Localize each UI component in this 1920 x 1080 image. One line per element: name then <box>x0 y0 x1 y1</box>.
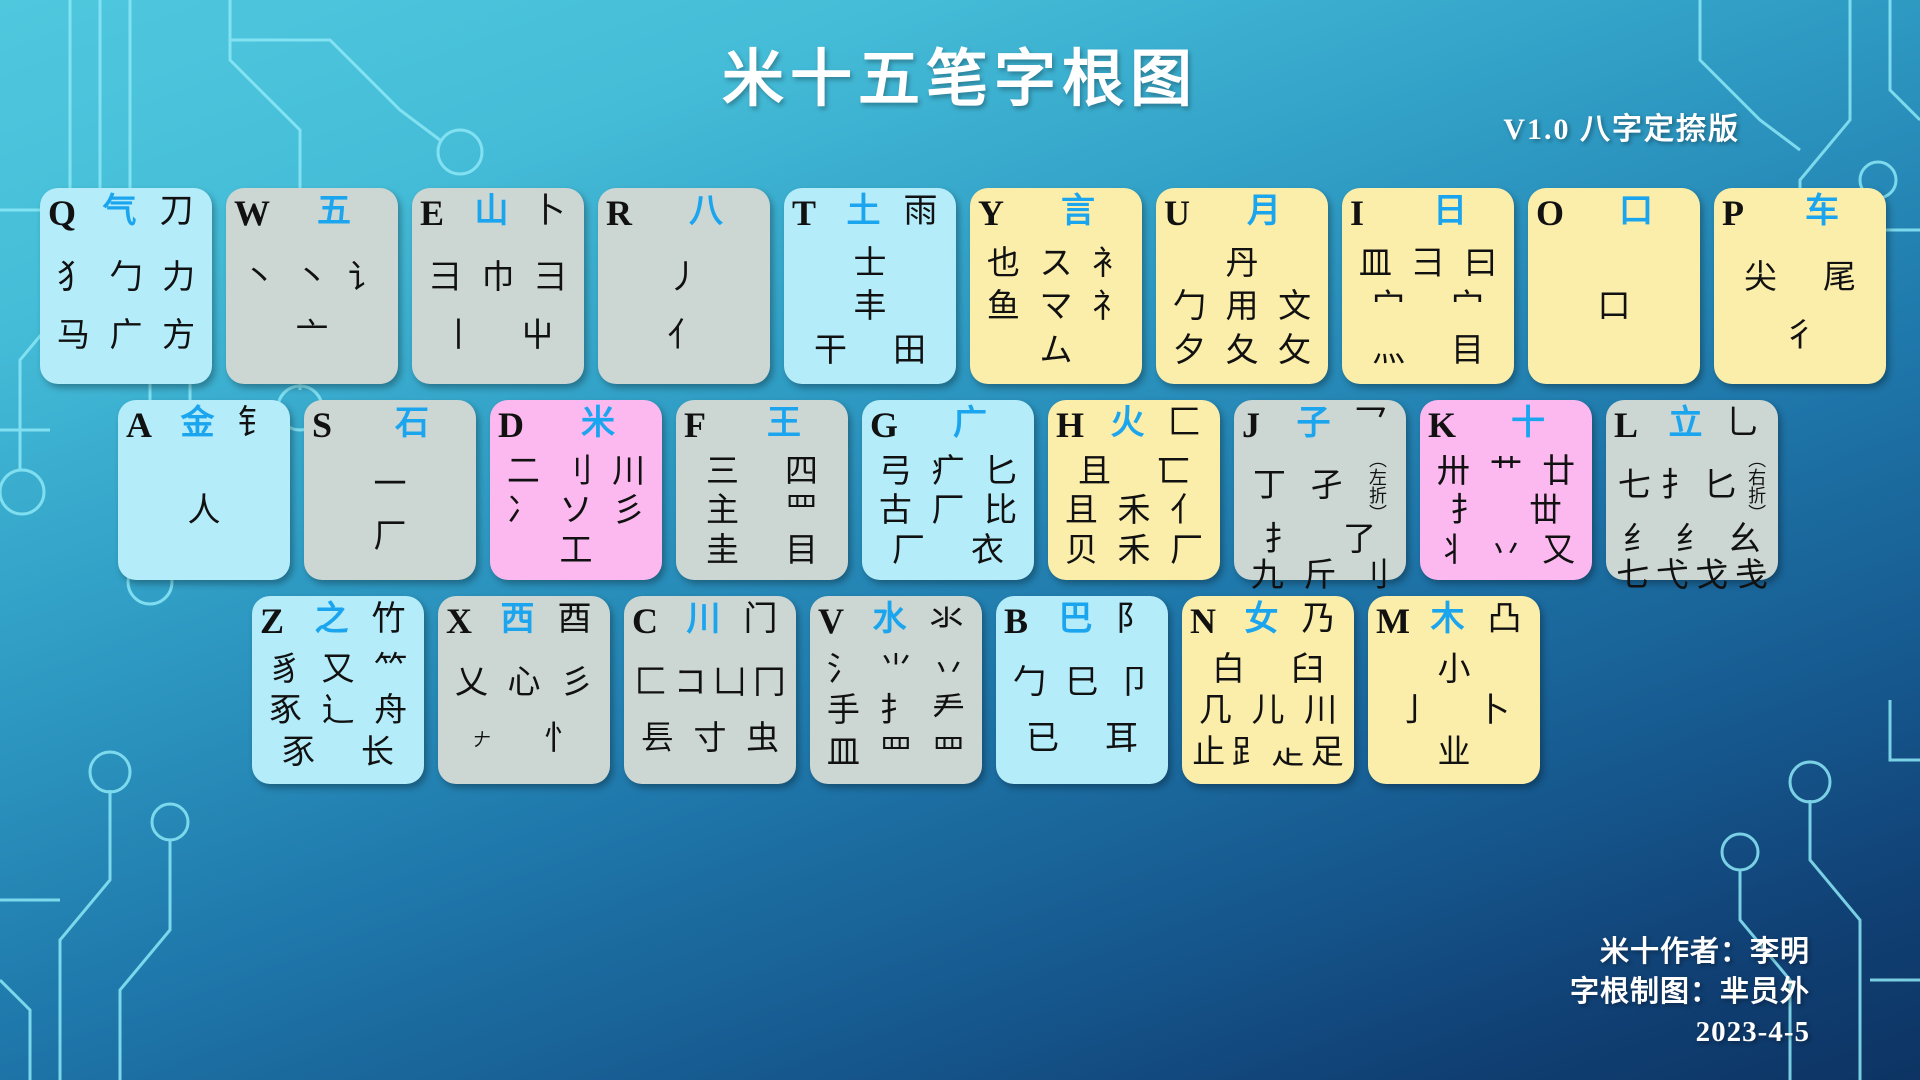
key-primary-radicals: 五 <box>278 192 390 232</box>
version-label: V1.0 八字定捺版 <box>1503 104 1740 148</box>
radical-glyph: 宀 <box>1372 289 1405 325</box>
radical-row: 纟纟幺 <box>1614 522 1770 558</box>
radical-glyph: 禾 <box>1117 493 1150 529</box>
radical-glyph: 凵 <box>713 665 746 701</box>
credit-designer: 字根制图：芈员外 <box>1570 972 1810 1012</box>
radical-glyph: 豸 <box>269 652 302 688</box>
radical-glyph: 巳 <box>1065 665 1098 701</box>
radical-glyph: 宀 <box>1451 289 1484 325</box>
key-header: M木凸 <box>1376 600 1532 646</box>
key-primary-radicals: 之竹 <box>304 600 416 640</box>
credit-author: 米十作者：李明 <box>1570 932 1810 972</box>
key-radical-body: 丶丶讠亠 <box>234 238 390 378</box>
key-header: I日 <box>1350 192 1506 238</box>
key-letter: B <box>1004 600 1048 642</box>
radical-glyph: 豖 <box>269 693 302 729</box>
key-letter: S <box>312 404 356 446</box>
key-radical-body: 一厂 <box>312 450 468 574</box>
radical-row: 三四 <box>684 454 840 490</box>
key-header: B巴阝 <box>1004 600 1160 646</box>
radical-glyph: 亻 <box>1170 493 1203 529</box>
radical-row: 豕长 <box>260 735 416 771</box>
radical-row: 亅卜 <box>1376 693 1532 729</box>
radical-glyph: 罒 <box>785 493 818 529</box>
radical-glyph: 主 <box>706 493 739 529</box>
radical-row: 已耳 <box>1004 721 1160 757</box>
key-j[interactable]: J子乛丁孑（左折）扌了九斤刂 <box>1234 400 1406 580</box>
radical-row: 勹用文 <box>1164 289 1320 325</box>
radical-glyph: 丗 <box>1529 493 1562 529</box>
radical-row: ム <box>978 333 1134 369</box>
radical-glyph: 乚 <box>1726 404 1760 444</box>
radical-glyph: 西 <box>501 600 535 640</box>
radical-glyph: 扌 <box>1264 522 1297 558</box>
radical-glyph: 丿 <box>668 260 701 296</box>
radical-row: 卅艹廿 <box>1428 454 1584 490</box>
key-x[interactable]: X西酉乂心彡𠂇忄 <box>438 596 610 784</box>
radical-glyph: 七 <box>1616 558 1649 594</box>
key-letter: F <box>684 404 728 446</box>
radical-glyph: 尾 <box>1823 260 1856 296</box>
key-r[interactable]: R八丿亻 <box>598 188 770 384</box>
radical-glyph: 丶 <box>243 260 276 296</box>
radical-glyph: 亻 <box>668 318 701 354</box>
key-g[interactable]: G广弓疒匕古厂比厂衣 <box>862 400 1034 580</box>
key-radical-body: 乂心彡𠂇忄 <box>446 646 602 778</box>
radical-glyph: 门 <box>744 600 778 640</box>
radical-glyph: ス <box>1039 246 1072 282</box>
key-primary-radicals: 川门 <box>676 600 788 640</box>
key-header: E山卜 <box>420 192 576 238</box>
radical-glyph: 女 <box>1245 600 1279 640</box>
key-primary-radicals: 十 <box>1472 404 1584 444</box>
key-primary-radicals: 火匚 <box>1100 404 1212 444</box>
radical-glyph: 攵 <box>1278 333 1311 369</box>
key-z[interactable]: Z之竹豸又⺮豖辶舟豕长 <box>252 596 424 784</box>
key-primary-radicals: 巴阝 <box>1048 600 1160 640</box>
key-n[interactable]: N女乃白臼几儿川止⻊龰足 <box>1182 596 1354 784</box>
radical-row: 二刂川 <box>498 454 654 490</box>
radical-glyph: 耳 <box>1105 721 1138 757</box>
key-primary-radicals: 木凸 <box>1420 600 1532 640</box>
key-s[interactable]: S石一厂 <box>304 400 476 580</box>
radical-row: 七弋戈戋 <box>1614 558 1770 594</box>
key-primary-radicals: 日 <box>1394 192 1506 232</box>
radical-glyph: 辶 <box>321 693 354 729</box>
radical-glyph: 扌 <box>1450 493 1483 529</box>
radical-row: 干田 <box>792 333 948 369</box>
radical-row: 七扌匕（右折） <box>1614 450 1770 522</box>
radical-glyph: 冂 <box>753 665 786 701</box>
key-radical-body: 三四主罒圭目 <box>684 450 840 574</box>
key-letter: I <box>1350 192 1394 234</box>
radical-row: 灬目 <box>1350 333 1506 369</box>
radical-glyph: 龰 <box>1271 735 1304 771</box>
key-letter: E <box>420 192 464 234</box>
key-d[interactable]: D米二刂川冫ソ彡工 <box>490 400 662 580</box>
radical-glyph: 止 <box>1192 735 1225 771</box>
radical-glyph: 龵 <box>932 693 965 729</box>
key-letter: D <box>498 404 542 446</box>
radical-glyph: 金 <box>181 404 215 444</box>
radical-row: 丿 <box>606 260 762 296</box>
key-f[interactable]: F王三四主罒圭目 <box>676 400 848 580</box>
key-primary-radicals: 石 <box>356 404 468 444</box>
radical-glyph: 曰 <box>1464 246 1497 282</box>
key-primary-radicals: 王 <box>728 404 840 444</box>
radical-glyph: 弓 <box>879 454 912 490</box>
radical-glyph: 凸 <box>1488 600 1522 640</box>
key-header: C川门 <box>632 600 788 646</box>
key-o[interactable]: O口口 <box>1528 188 1700 384</box>
radical-glyph: 九 <box>1251 558 1284 594</box>
radical-row: 丹 <box>1164 246 1320 282</box>
key-radical-body: 也ス衤鱼マ礻ム <box>978 238 1134 378</box>
radical-glyph: 广 <box>953 404 987 444</box>
radical-glyph: 禾 <box>1117 533 1150 569</box>
radical-glyph: 王 <box>767 404 801 444</box>
radical-row: 业 <box>1376 735 1532 771</box>
radical-glyph: 亠 <box>296 318 329 354</box>
key-primary-radicals: 女乃 <box>1234 600 1346 640</box>
radical-row: 厂 <box>312 519 468 555</box>
radical-glyph: 二 <box>507 454 540 490</box>
key-letter: N <box>1190 600 1234 642</box>
radical-glyph: 斤 <box>1303 558 1336 594</box>
key-letter: O <box>1536 192 1580 234</box>
radical-glyph: 卩 <box>1118 665 1151 701</box>
radical-glyph: 戋 <box>1735 558 1768 594</box>
radical-glyph: 巾 <box>481 260 514 296</box>
radical-glyph: 言 <box>1061 192 1095 232</box>
radical-glyph: 石 <box>395 404 429 444</box>
key-primary-radicals: 米 <box>542 404 654 444</box>
radical-row: 乂心彡 <box>446 665 602 701</box>
key-q[interactable]: Q气刀犭勹力马广方 <box>40 188 212 384</box>
radical-glyph: 力 <box>162 260 195 296</box>
radical-glyph: 五 <box>317 192 351 232</box>
key-primary-radicals: 水氺 <box>862 600 974 640</box>
key-header: O口 <box>1536 192 1692 238</box>
radical-glyph: 匚 <box>1168 404 1202 444</box>
keyboard-row-3: Z之竹豸又⺮豖辶舟豕长X西酉乂心彡𠂇忄C川门匚コ凵冂镸寸虫V水氺氵⺌丷手扌龵皿罒… <box>0 596 1920 784</box>
key-letter: C <box>632 600 676 642</box>
radical-glyph: 工 <box>560 533 593 569</box>
radical-glyph: 贝 <box>1065 533 1098 569</box>
radical-glyph: 讠 <box>348 260 381 296</box>
key-i[interactable]: I日皿彐曰宀宀灬目 <box>1342 188 1514 384</box>
key-header: F王 <box>684 404 840 450</box>
radical-glyph: 卜 <box>532 192 566 232</box>
radical-glyph: 比 <box>984 493 1017 529</box>
radical-glyph: 罒 <box>879 735 912 771</box>
key-radical-body: 二刂川冫ソ彡工 <box>498 450 654 574</box>
keyboard-layout: Q气刀犭勹力马广方W五丶丶讠亠E山卜⺕巾彐丨屮R八丿亻T土雨士丰干田Y言也ス衤鱼… <box>0 188 1920 800</box>
radical-glyph: 长 <box>361 735 394 771</box>
radical-glyph: 阝 <box>1116 600 1150 640</box>
radical-glyph: 寸 <box>693 721 726 757</box>
key-header: T土雨 <box>792 192 948 238</box>
radical-glyph: 乃 <box>1302 600 1336 640</box>
key-radical-body: 丿亻 <box>606 238 762 378</box>
radical-glyph: ⺕ <box>429 260 462 296</box>
radical-glyph: 火 <box>1111 404 1145 444</box>
radical-glyph: 白 <box>1212 652 1245 688</box>
key-letter: X <box>446 600 490 642</box>
radical-glyph: 氺 <box>930 600 964 640</box>
radical-glyph: 弋 <box>1656 558 1689 594</box>
radical-glyph: 用 <box>1225 289 1258 325</box>
key-header: P车 <box>1722 192 1878 238</box>
keyboard-row-2: A金钅人S石一厂D米二刂川冫ソ彡工F王三四主罒圭目G广弓疒匕古厂比厂衣H火匚且匸… <box>0 400 1920 580</box>
key-v[interactable]: V水氺氵⺌丷手扌龵皿罒罒 <box>810 596 982 784</box>
key-header: K十 <box>1428 404 1584 450</box>
radical-glyph: 戈 <box>1695 558 1728 594</box>
key-radical-body: 匚コ凵冂镸寸虫 <box>632 646 788 778</box>
radical-row: 扌了 <box>1242 522 1398 558</box>
key-t[interactable]: T土雨士丰干田 <box>784 188 956 384</box>
key-letter: T <box>792 192 836 234</box>
radical-glyph: 人 <box>188 493 221 529</box>
key-letter: U <box>1164 192 1208 234</box>
key-primary-radicals: 西酉 <box>490 600 602 640</box>
key-radical-body: 犭勹力马广方 <box>48 238 204 378</box>
radical-row: 古厂比 <box>870 493 1026 529</box>
key-header: N女乃 <box>1190 600 1346 646</box>
radical-row: 圭目 <box>684 533 840 569</box>
radical-row: 丰 <box>792 289 948 325</box>
radical-glyph: 竹 <box>372 600 406 640</box>
key-primary-radicals: 山卜 <box>464 192 576 232</box>
radical-glyph: 勹 <box>109 260 142 296</box>
radical-glyph: 匸 <box>1157 454 1190 490</box>
radical-note: （右折） <box>1746 450 1766 522</box>
radical-glyph: 臼 <box>1291 652 1324 688</box>
radical-row: 宀宀 <box>1350 289 1506 325</box>
radical-glyph: ム <box>1040 333 1073 369</box>
radical-glyph: 业 <box>1438 735 1471 771</box>
radical-glyph: 罒 <box>932 735 965 771</box>
key-c[interactable]: C川门匚コ凵冂镸寸虫 <box>624 596 796 784</box>
poster-canvas: 米十五笔字根图 V1.0 八字定捺版 Q气刀犭勹力马广方W五丶丶讠亠E山卜⺕巾彐… <box>0 0 1920 1080</box>
radical-glyph: ソ <box>559 493 592 529</box>
radical-row: 白臼 <box>1190 652 1346 688</box>
radical-glyph: 川 <box>1304 693 1337 729</box>
radical-glyph: 皿 <box>1359 246 1392 282</box>
radical-row: 𠂇忄 <box>446 721 602 757</box>
radical-glyph: 酉 <box>558 600 592 640</box>
radical-glyph: 乛 <box>1354 404 1388 444</box>
radical-glyph: 亅 <box>1398 693 1431 729</box>
radical-row: 豖辶舟 <box>260 693 416 729</box>
key-p[interactable]: P车尖尾彳 <box>1714 188 1886 384</box>
radical-glyph: 几 <box>1199 693 1232 729</box>
radical-glyph: 尖 <box>1744 260 1777 296</box>
radical-glyph: 匕 <box>1703 468 1736 504</box>
credit-date: 2023-4-5 <box>1570 1012 1810 1052</box>
radical-row: 亠 <box>234 318 390 354</box>
key-radical-body: 丹勹用文夕夂攵 <box>1164 238 1320 378</box>
keyboard-row-1: Q气刀犭勹力马广方W五丶丶讠亠E山卜⺕巾彐丨屮R八丿亻T土雨士丰干田Y言也ス衤鱼… <box>0 188 1920 384</box>
key-header: Z之竹 <box>260 600 416 646</box>
radical-glyph: 巴 <box>1059 600 1093 640</box>
key-letter: H <box>1056 404 1100 446</box>
radical-glyph: 川 <box>612 454 645 490</box>
key-radical-body: 士丰干田 <box>792 238 948 378</box>
key-letter: W <box>234 192 278 234</box>
radical-row: 丁孑（左折） <box>1242 450 1398 522</box>
radical-glyph: 圭 <box>706 533 739 569</box>
radical-row: 夕夂攵 <box>1164 333 1320 369</box>
key-header: R八 <box>606 192 762 238</box>
radical-row: 贝禾厂 <box>1056 533 1212 569</box>
radical-glyph: 丷 <box>1489 533 1522 569</box>
key-letter: P <box>1722 192 1766 234</box>
radical-glyph: 文 <box>1278 289 1311 325</box>
key-primary-radicals: 月 <box>1208 192 1320 232</box>
key-radical-body: 氵⺌丷手扌龵皿罒罒 <box>818 646 974 778</box>
key-l[interactable]: L立乚七扌匕（右折）纟纟幺七弋戈戋 <box>1606 400 1778 580</box>
key-header: V水氺 <box>818 600 974 646</box>
radical-glyph: 了 <box>1343 522 1376 558</box>
key-radical-body: 七扌匕（右折）纟纟幺七弋戈戋 <box>1614 450 1770 596</box>
key-letter: L <box>1614 404 1658 446</box>
radical-row: 一 <box>312 467 468 503</box>
key-k[interactable]: K十卅艹廿扌丗丬丷又 <box>1420 400 1592 580</box>
radical-glyph: 八 <box>689 192 723 232</box>
key-header: L立乚 <box>1614 404 1770 450</box>
radical-glyph: 土 <box>847 192 881 232</box>
radical-row: 皿罒罒 <box>818 735 974 771</box>
radical-glyph: コ <box>674 665 707 701</box>
radical-row: 口 <box>1536 289 1692 325</box>
key-letter: Q <box>48 192 92 234</box>
key-m[interactable]: M木凸小亅卜业 <box>1368 596 1540 784</box>
key-primary-radicals: 口 <box>1580 192 1692 232</box>
radical-row: 彳 <box>1722 318 1878 354</box>
radical-glyph: 衤 <box>1092 246 1125 282</box>
key-letter: K <box>1428 404 1472 446</box>
radical-glyph: 纟 <box>1623 522 1656 558</box>
radical-row: 且匸 <box>1056 454 1212 490</box>
radical-glyph: 子 <box>1297 404 1331 444</box>
radical-row: 皿彐曰 <box>1350 246 1506 282</box>
key-letter: R <box>606 192 650 234</box>
radical-glyph: 且 <box>1078 454 1111 490</box>
key-e[interactable]: E山卜⺕巾彐丨屮 <box>412 188 584 384</box>
key-radical-body: 尖尾彳 <box>1722 238 1878 378</box>
radical-glyph: 疒 <box>931 454 964 490</box>
key-primary-radicals: 立乚 <box>1658 404 1770 444</box>
radical-glyph: 一 <box>374 467 407 503</box>
radical-row: 匚コ凵冂 <box>632 665 788 701</box>
key-h[interactable]: H火匚且匸且禾亻贝禾厂 <box>1048 400 1220 580</box>
key-u[interactable]: U月丹勹用文夕夂攵 <box>1156 188 1328 384</box>
key-primary-radicals: 气刀 <box>92 192 204 232</box>
radical-note: （左折） <box>1367 450 1387 522</box>
radical-row: 豸又⺮ <box>260 652 416 688</box>
key-letter: M <box>1376 600 1420 642</box>
radical-glyph: 丨 <box>442 318 475 354</box>
credits-block: 米十作者：李明 字根制图：芈员外 2023-4-5 <box>1570 932 1810 1052</box>
radical-row: 镸寸虫 <box>632 721 788 757</box>
radical-glyph: 口 <box>1619 192 1653 232</box>
radical-glyph: 四 <box>785 454 818 490</box>
radical-glyph: 豕 <box>282 735 315 771</box>
radical-row: 尖尾 <box>1722 260 1878 296</box>
radical-row: 勹巳卩 <box>1004 665 1160 701</box>
radical-glyph: 也 <box>987 246 1020 282</box>
radical-glyph: 马 <box>57 318 90 354</box>
radical-glyph: ⻊ <box>1232 735 1265 771</box>
radical-glyph: 目 <box>1451 333 1484 369</box>
radical-row: 亻 <box>606 318 762 354</box>
radical-glyph: 丹 <box>1226 246 1259 282</box>
radical-glyph: 犭 <box>57 260 90 296</box>
radical-row: 弓疒匕 <box>870 454 1026 490</box>
radical-glyph: 厂 <box>1170 533 1203 569</box>
radical-glyph: 厂 <box>892 533 925 569</box>
radical-glyph: 十 <box>1511 404 1545 444</box>
radical-glyph: 小 <box>1438 652 1471 688</box>
key-header: G广 <box>870 404 1026 450</box>
radical-glyph: 刂 <box>559 454 592 490</box>
radical-glyph: 车 <box>1805 192 1839 232</box>
key-radical-body: 口 <box>1536 238 1692 378</box>
key-b[interactable]: B巴阝勹巳卩已耳 <box>996 596 1168 784</box>
radical-glyph: 日 <box>1433 192 1467 232</box>
key-primary-radicals: 子乛 <box>1286 404 1398 444</box>
radical-glyph: 又 <box>1542 533 1575 569</box>
radical-glyph: 氵 <box>827 652 860 688</box>
radical-glyph: 礻 <box>1092 289 1125 325</box>
radical-row: 冫ソ彡 <box>498 493 654 529</box>
key-a[interactable]: A金钅人 <box>118 400 290 580</box>
radical-glyph: 三 <box>706 454 739 490</box>
key-header: H火匚 <box>1056 404 1212 450</box>
key-y[interactable]: Y言也ス衤鱼マ礻ム <box>970 188 1142 384</box>
radical-glyph: 雨 <box>904 192 938 232</box>
radical-glyph: 勹 <box>1173 289 1206 325</box>
radical-row: 丶丶讠 <box>234 260 390 296</box>
radical-glyph: 手 <box>827 693 860 729</box>
radical-row: 小 <box>1376 652 1532 688</box>
key-primary-radicals: 言 <box>1022 192 1134 232</box>
radical-row: 且禾亻 <box>1056 493 1212 529</box>
radical-row: 厂衣 <box>870 533 1026 569</box>
key-radical-body: 皿彐曰宀宀灬目 <box>1350 238 1506 378</box>
key-primary-radicals: 车 <box>1766 192 1878 232</box>
radical-row: 止⻊龰足 <box>1190 735 1346 771</box>
key-letter: V <box>818 600 862 642</box>
key-letter: A <box>126 404 170 446</box>
key-w[interactable]: W五丶丶讠亠 <box>226 188 398 384</box>
radical-row: 马广方 <box>48 318 204 354</box>
radical-glyph: 立 <box>1669 404 1703 444</box>
key-header: D米 <box>498 404 654 450</box>
radical-row: 工 <box>498 533 654 569</box>
key-radical-body: 勹巳卩已耳 <box>1004 646 1160 778</box>
radical-glyph: 已 <box>1026 721 1059 757</box>
radical-glyph: 匕 <box>984 454 1017 490</box>
radical-glyph: 方 <box>162 318 195 354</box>
radical-glyph: 鱼 <box>987 289 1020 325</box>
radical-glyph: 儿 <box>1251 693 1284 729</box>
radical-row: 士 <box>792 246 948 282</box>
radical-row: 主罒 <box>684 493 840 529</box>
key-radical-body: 豸又⺮豖辶舟豕长 <box>260 646 416 778</box>
radical-glyph: 虫 <box>746 721 779 757</box>
